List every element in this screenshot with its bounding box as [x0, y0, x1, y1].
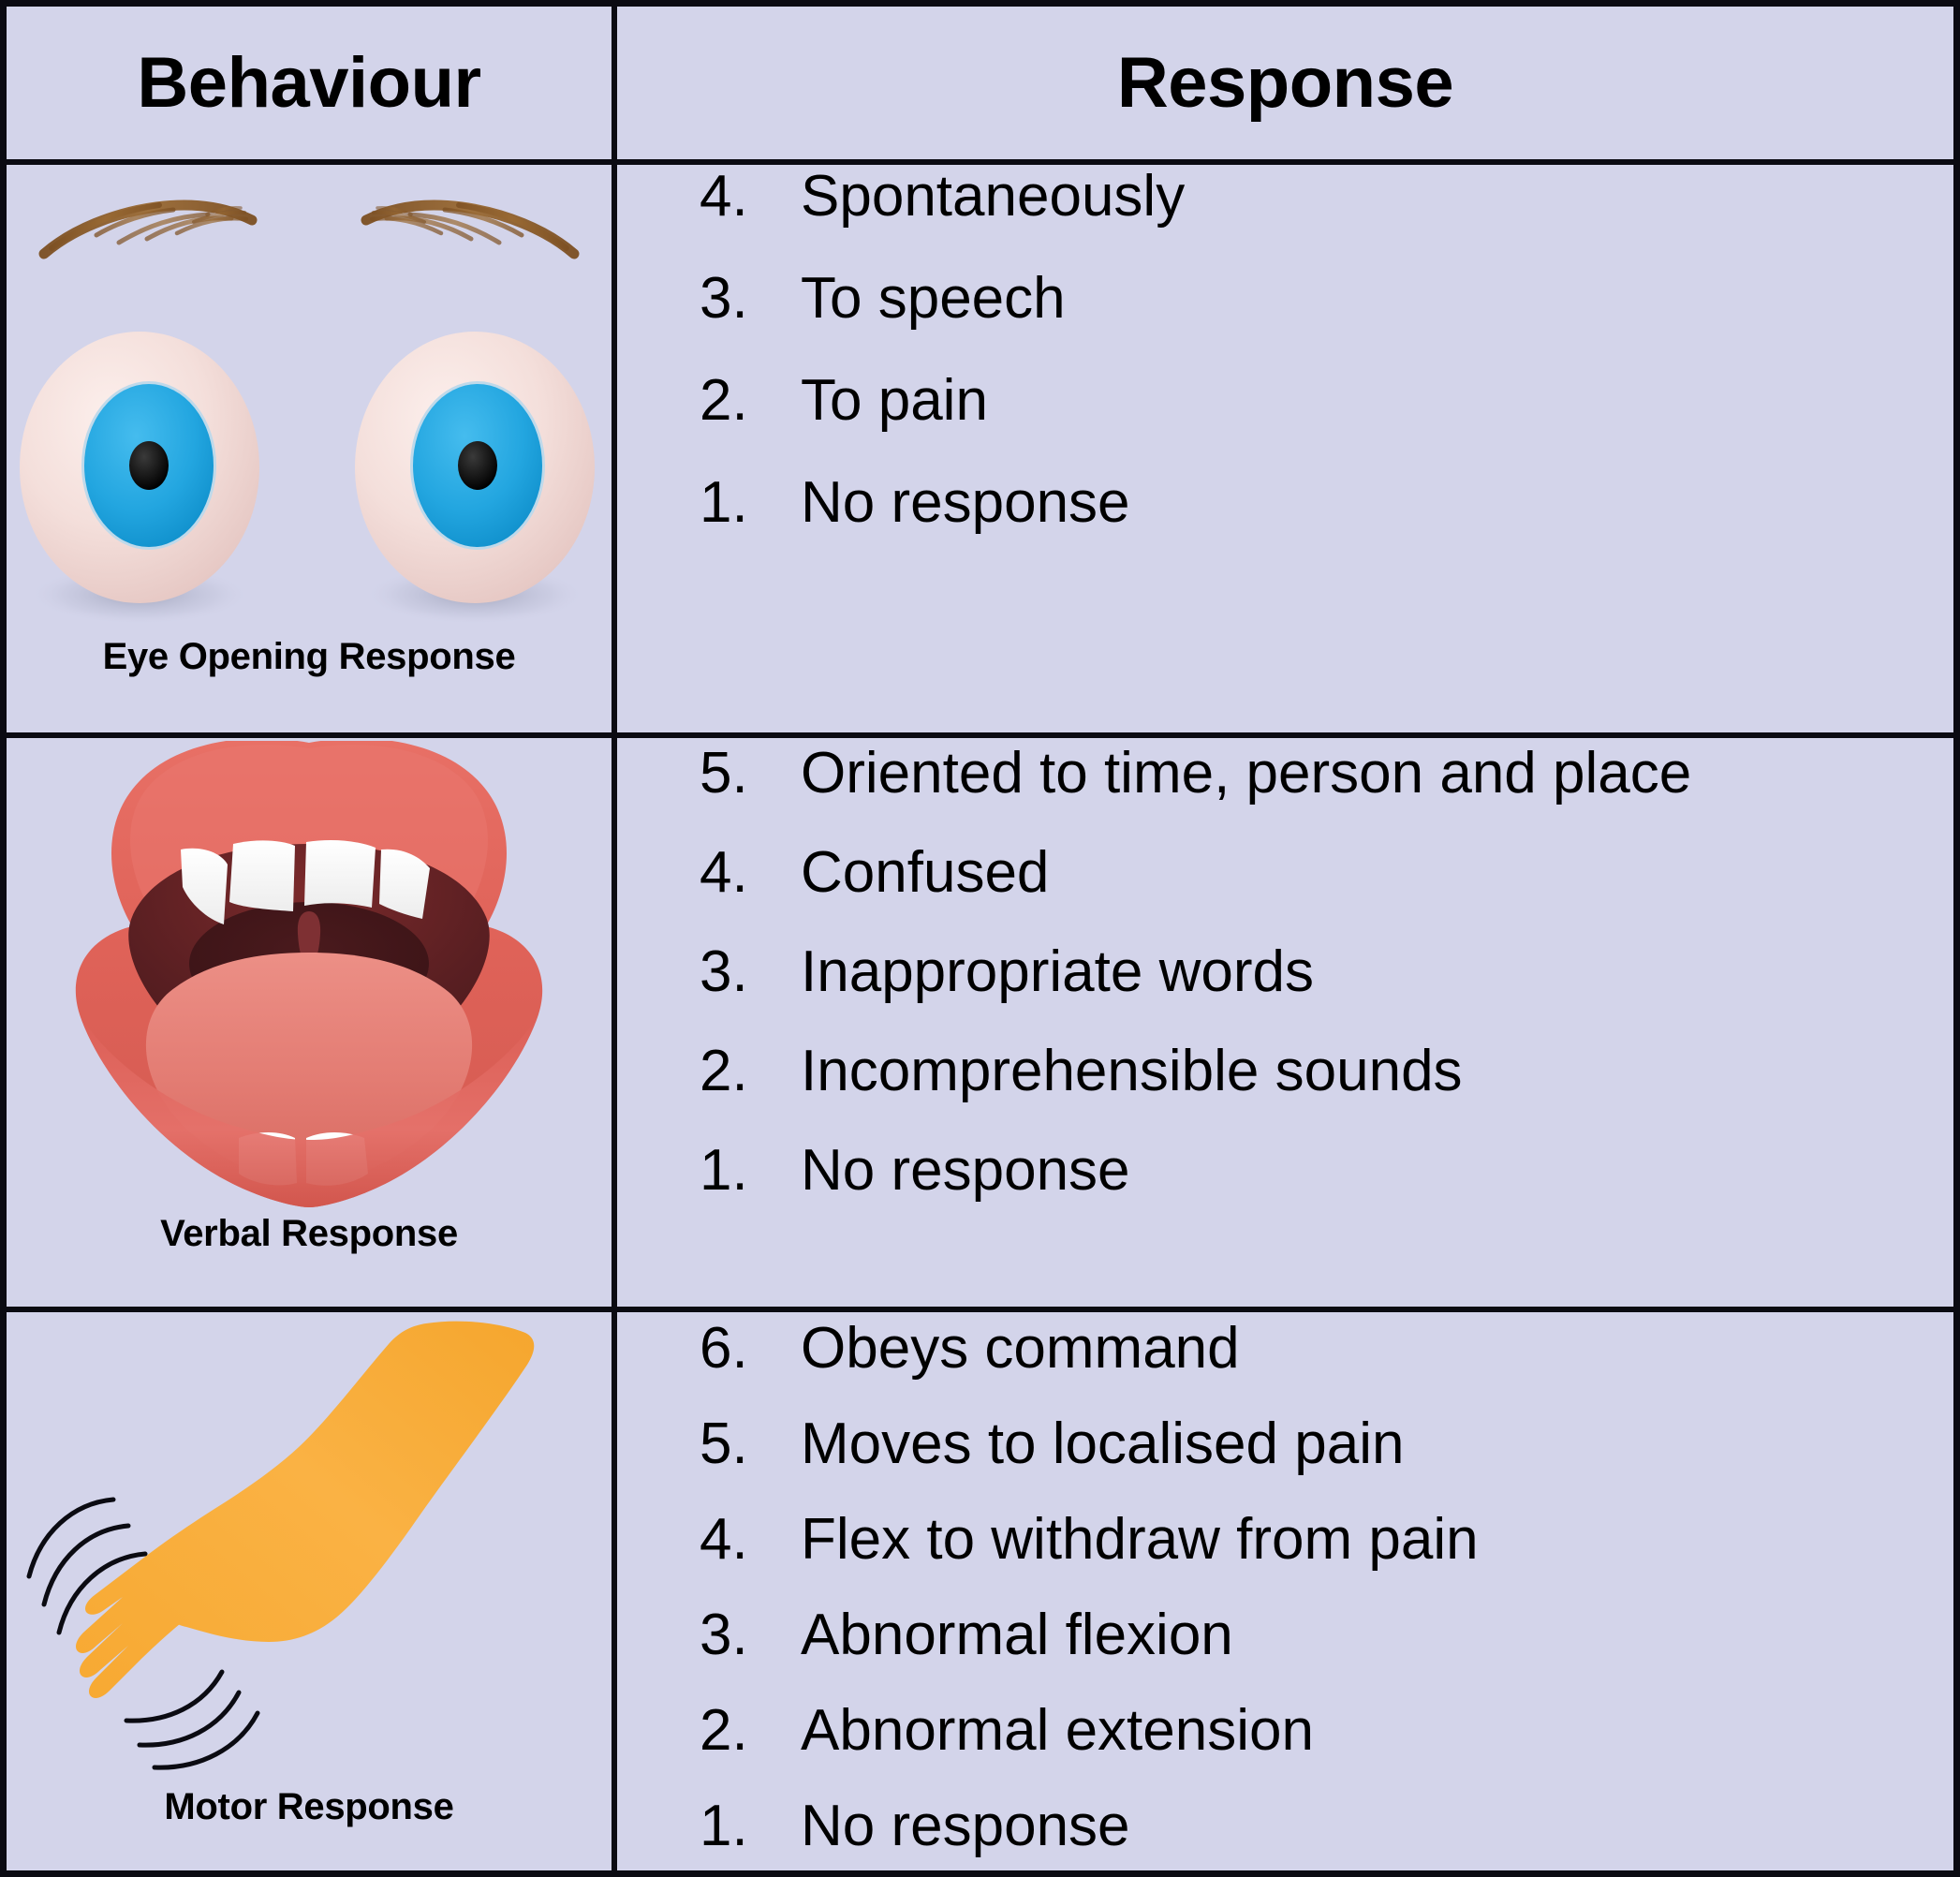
response-score: 2.	[700, 1702, 801, 1760]
glasgow-coma-scale-table: Behaviour Response	[0, 0, 1960, 1877]
response-score: 3.	[700, 1606, 801, 1664]
left-eyeball	[20, 332, 259, 603]
response-score: 5.	[700, 745, 801, 803]
list-item: 1. No response	[700, 474, 1937, 532]
list-item: 4. Spontaneously	[700, 168, 1937, 226]
list-item: 5. Oriented to time, person and place	[700, 745, 1937, 803]
row-divider-1	[7, 732, 1953, 738]
list-item: 3. To speech	[700, 270, 1937, 328]
header-response-label: Response	[1117, 42, 1453, 124]
behaviour-label-eye-opening: Eye Opening Response	[7, 636, 612, 678]
response-list-eye-opening: 4. Spontaneously 3. To speech 2. To pain…	[700, 168, 1937, 576]
response-score: 5.	[700, 1415, 801, 1473]
eyes-icon	[7, 168, 612, 655]
list-item: 1. No response	[700, 1797, 1937, 1855]
list-item: 2. To pain	[700, 372, 1937, 430]
response-text: Flex to withdraw from pain	[801, 1511, 1479, 1569]
response-score: 2.	[700, 372, 801, 430]
arm-illustration	[7, 1312, 612, 1771]
response-text: No response	[801, 1797, 1130, 1855]
response-text: To speech	[801, 270, 1066, 328]
response-text: To pain	[801, 372, 988, 430]
response-text: Incomprehensible sounds	[801, 1042, 1463, 1101]
moving-arm-icon	[7, 1312, 612, 1771]
response-text: No response	[801, 1142, 1130, 1200]
right-eyeball	[355, 332, 595, 603]
list-item: 2. Incomprehensible sounds	[700, 1042, 1937, 1101]
list-item: 2. Abnormal extension	[700, 1702, 1937, 1760]
list-item: 4. Confused	[700, 844, 1937, 902]
response-text: Spontaneously	[801, 168, 1185, 226]
behaviour-label-motor: Motor Response	[7, 1786, 612, 1828]
list-item: 5. Moves to localised pain	[700, 1415, 1937, 1473]
eyes-illustration	[7, 168, 612, 655]
response-score: 1.	[700, 1142, 801, 1200]
response-text: Oriented to time, person and place	[801, 745, 1691, 803]
response-text: Obeys command	[801, 1320, 1240, 1378]
left-eyebrow-icon	[44, 205, 252, 254]
response-text: Inappropriate words	[801, 943, 1314, 1001]
response-list-verbal: 5. Oriented to time, person and place 4.…	[700, 745, 1937, 1241]
open-mouth-icon	[7, 741, 612, 1209]
response-text: Moves to localised pain	[801, 1415, 1404, 1473]
list-item: 6. Obeys command	[700, 1320, 1937, 1378]
response-score: 3.	[700, 270, 801, 328]
response-text: Abnormal flexion	[801, 1606, 1233, 1664]
response-score: 4.	[700, 168, 801, 226]
response-score: 1.	[700, 1797, 801, 1855]
response-text: Abnormal extension	[801, 1702, 1314, 1760]
response-score: 4.	[700, 1511, 801, 1569]
right-eyebrow-icon	[366, 205, 574, 254]
response-score: 1.	[700, 474, 801, 532]
header-behaviour: Behaviour	[7, 7, 612, 159]
behaviour-label-verbal: Verbal Response	[7, 1213, 612, 1255]
response-text: No response	[801, 474, 1130, 532]
motion-arcs-lower	[126, 1672, 258, 1767]
response-list-motor: 6. Obeys command 5. Moves to localised p…	[700, 1320, 1937, 1877]
arm-shape	[76, 1322, 534, 1698]
response-score: 4.	[700, 844, 801, 902]
open-mouth-illustration	[7, 741, 612, 1209]
list-item: 3. Abnormal flexion	[700, 1606, 1937, 1664]
response-text: Confused	[801, 844, 1049, 902]
response-score: 3.	[700, 943, 801, 1001]
response-score: 6.	[700, 1320, 801, 1378]
list-item: 3. Inappropriate words	[700, 943, 1937, 1001]
response-score: 2.	[700, 1042, 801, 1101]
list-item: 4. Flex to withdraw from pain	[700, 1511, 1937, 1569]
header-behaviour-label: Behaviour	[137, 42, 480, 124]
list-item: 1. No response	[700, 1142, 1937, 1200]
column-divider	[612, 7, 617, 1870]
header-response: Response	[617, 7, 1953, 159]
